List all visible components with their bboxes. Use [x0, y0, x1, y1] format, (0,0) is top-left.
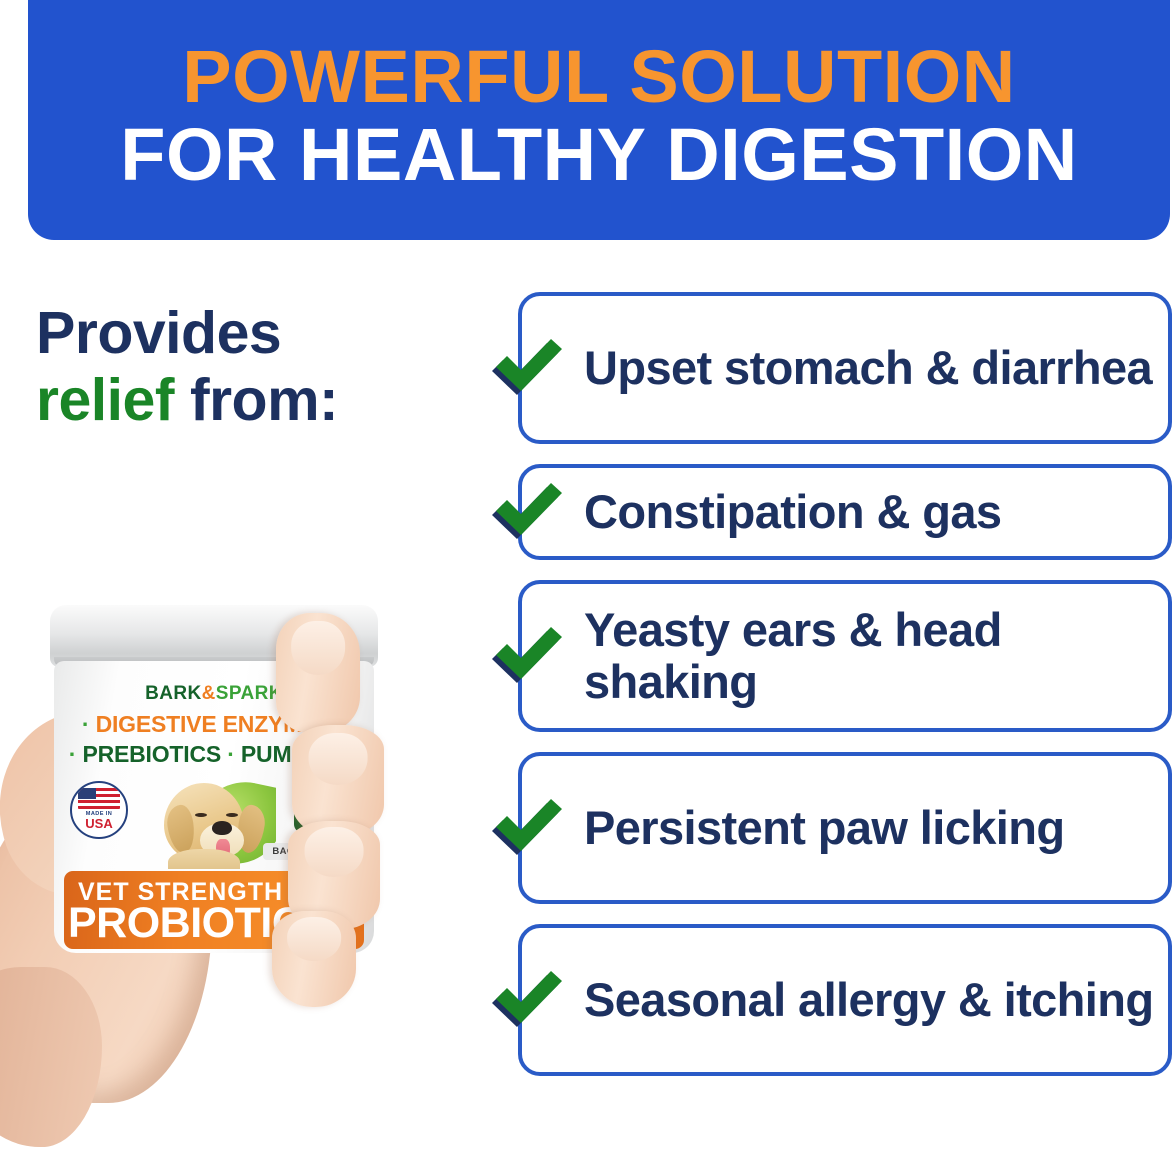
benefit-label: Constipation & gas	[584, 486, 1001, 538]
benefit-card[interactable]: Persistent paw licking	[518, 752, 1172, 904]
banner-headline-primary: POWERFUL SOLUTION	[182, 39, 1015, 114]
relief-heading: Provides relief from:	[36, 300, 476, 435]
brand-name-bark: BARK	[145, 683, 202, 704]
benefit-card[interactable]: Constipation & gas	[518, 464, 1172, 560]
infographic-page: POWERFUL SOLUTION FOR HEALTHY DIGESTION …	[0, 0, 1172, 1170]
checkmark-icon	[486, 617, 564, 695]
benefit-label: Seasonal allergy & itching	[584, 974, 1153, 1026]
brand-name-spark: SPARK	[216, 683, 283, 704]
dog-nose	[212, 821, 232, 835]
header-banner: POWERFUL SOLUTION FOR HEALTHY DIGESTION	[28, 0, 1170, 240]
bullet-dot-icon: ·	[69, 741, 76, 767]
usa-flag-icon	[78, 788, 120, 809]
dog-eye-right	[226, 813, 238, 817]
ingredient-prebiotics: PREBIOTICS	[82, 741, 221, 767]
bullet-dot-icon: ·	[227, 741, 234, 767]
fingernail	[309, 733, 368, 785]
hand-wrist	[0, 967, 102, 1147]
benefit-label: Yeasty ears & head shaking	[584, 604, 1154, 707]
checkmark-icon	[486, 329, 564, 407]
benefit-label: Upset stomach & diarrhea	[584, 342, 1152, 394]
dog-eye-left	[195, 813, 207, 817]
usa-text: USA	[85, 817, 112, 830]
benefit-label: Persistent paw licking	[584, 802, 1064, 854]
dog-ear-left	[165, 803, 197, 854]
relief-heading-word-relief: relief	[36, 367, 174, 433]
hand-finger-1	[276, 613, 360, 733]
checkmark-icon	[486, 789, 564, 867]
benefit-card[interactable]: Yeasty ears & head shaking	[518, 580, 1172, 732]
relief-heading-word-from: from:	[190, 367, 338, 433]
banner-headline-secondary: FOR HEALTHY DIGESTION	[120, 114, 1077, 197]
checkmark-icon	[486, 961, 564, 1039]
brand-ampersand: &	[202, 683, 216, 704]
fingernail	[305, 827, 364, 877]
bullet-dot-icon: ·	[82, 711, 89, 737]
dog-chest	[168, 849, 240, 869]
product-photo: BARK&SPARK · DIGESTIVE ENZYMES · · PREBI…	[0, 575, 462, 1170]
benefit-card[interactable]: Seasonal allergy & itching	[518, 924, 1172, 1076]
checkmark-icon	[486, 473, 564, 551]
hand-finger-4	[272, 911, 356, 1007]
fingernail	[287, 917, 341, 961]
relief-heading-word-provides: Provides	[36, 300, 281, 366]
benefits-checklist: Upset stomach & diarrheaConstipation & g…	[518, 292, 1172, 1096]
dog-photo	[146, 773, 276, 869]
fingernail	[291, 621, 345, 675]
benefit-card[interactable]: Upset stomach & diarrhea	[518, 292, 1172, 444]
made-in-usa-badge: MADE IN USA	[70, 781, 128, 839]
hand-finger-2	[292, 725, 384, 835]
